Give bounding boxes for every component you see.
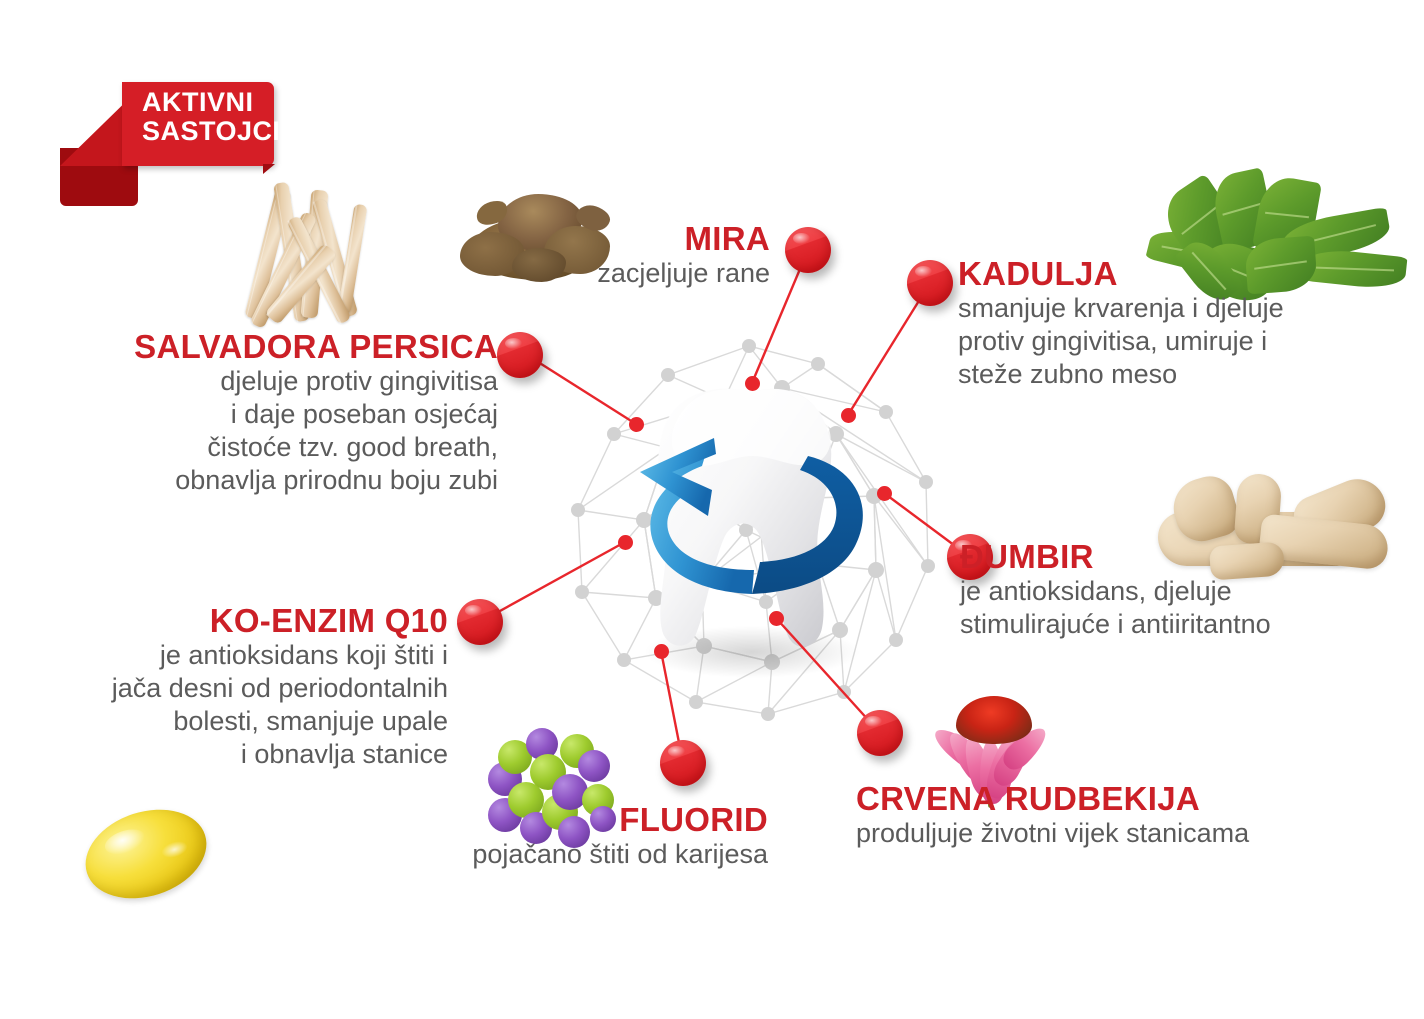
pin-fluorid[interactable] <box>660 740 706 786</box>
pin-mira[interactable] <box>785 227 831 273</box>
ingredient-desc-kadulja: smanjuje krvarenja i djeluje protiv ging… <box>958 292 1358 392</box>
pin-rudbekija[interactable] <box>857 710 903 756</box>
ingredient-desc-koenzim: je antioksidans koji štiti i jača desni … <box>30 639 448 772</box>
infographic-canvas: AKTIVNI SASTOJCI <box>0 0 1424 1019</box>
softgel-capsule-image <box>74 795 218 913</box>
ingredient-title-rudbekija: CRVENA RUDBEKIJA <box>856 782 1346 817</box>
ingredient-block-mira: MIRA zacjeljuje rane <box>520 222 770 290</box>
mesh-dot-salvadora <box>629 417 644 432</box>
ingredient-block-fluorid: FLUORID pojačano štiti od karijesa <box>400 803 768 871</box>
ingredient-block-rudbekija: CRVENA RUDBEKIJA produljuje životni vije… <box>856 782 1346 850</box>
ingredient-block-koenzim: KO-ENZIM Q10 je antioksidans koji štiti … <box>30 604 448 771</box>
ingredient-desc-mira: zacjeljuje rane <box>520 257 770 290</box>
ingredient-title-mira: MIRA <box>520 222 770 257</box>
ingredient-title-fluorid: FLUORID <box>400 803 768 838</box>
ingredient-desc-salvadora: djeluje protiv gingivitisa i daje poseba… <box>98 365 498 498</box>
mesh-dot-kadulja <box>841 408 856 423</box>
mesh-dot-koenzim <box>618 535 633 550</box>
ingredient-title-kadulja: KADULJA <box>958 257 1358 292</box>
banner-label: AKTIVNI SASTOJCI <box>142 88 292 146</box>
ingredient-block-salvadora: SALVADORA PERSICA djeluje protiv gingivi… <box>98 330 498 497</box>
pin-kadulja[interactable] <box>907 260 953 306</box>
mesh-dot-dumbir <box>877 486 892 501</box>
ingredient-block-kadulja: KADULJA smanjuje krvarenja i djeluje pro… <box>958 257 1358 391</box>
flower-cone <box>956 696 1032 744</box>
mesh-dot-fluorid <box>654 644 669 659</box>
ingredient-desc-fluorid: pojačano štiti od karijesa <box>400 838 768 871</box>
ingredient-desc-rudbekija: produljuje životni vijek stanicama <box>856 817 1346 850</box>
pin-salvadora[interactable] <box>497 332 543 378</box>
ingredient-desc-dumbir: je antioksidans, djeluje stimulirajuće i… <box>960 575 1390 641</box>
ingredient-title-dumbir: ĐUMBIR <box>960 540 1390 575</box>
miswak-sticks-image <box>248 178 408 328</box>
ingredient-block-dumbir: ĐUMBIR je antioksidans, djeluje stimulir… <box>960 540 1390 641</box>
pin-koenzim[interactable] <box>457 599 503 645</box>
mesh-dot-mira <box>745 376 760 391</box>
ingredient-title-koenzim: KO-ENZIM Q10 <box>30 604 448 639</box>
mesh-dot-rudbekija <box>769 611 784 626</box>
ingredient-title-salvadora: SALVADORA PERSICA <box>98 330 498 365</box>
